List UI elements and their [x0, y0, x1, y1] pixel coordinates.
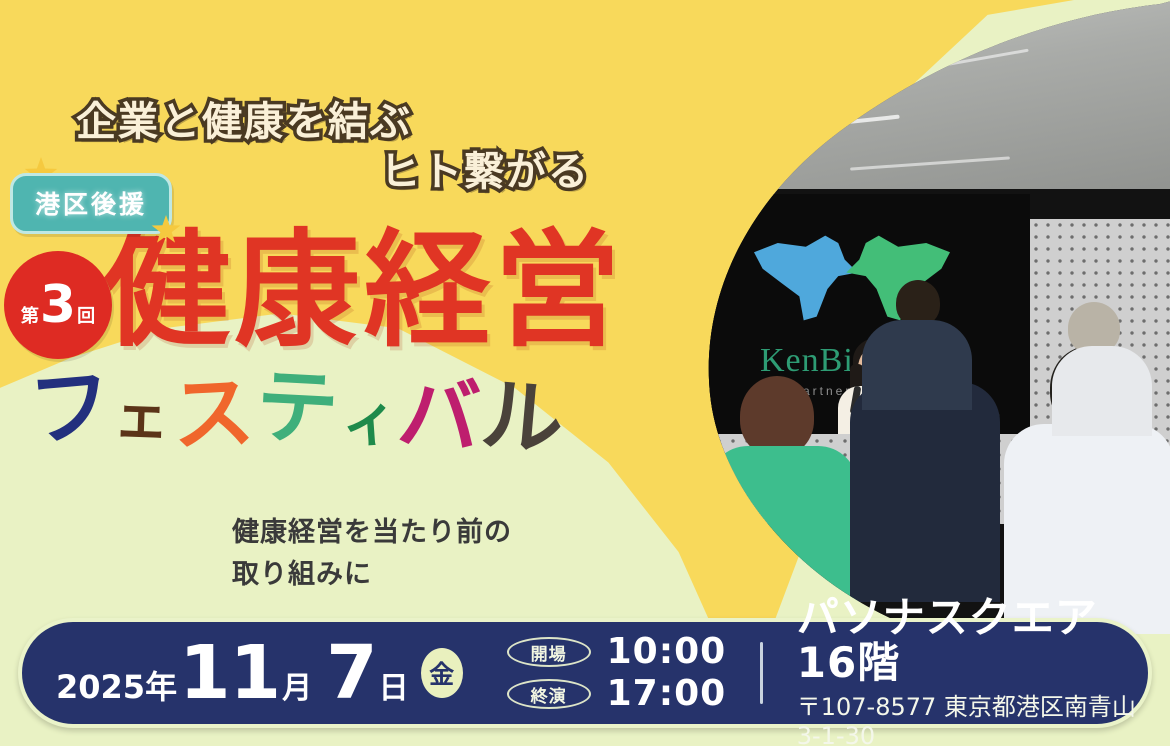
title-sub-char: フ	[26, 365, 117, 454]
event-poster: KenBi Partner	[0, 0, 1170, 746]
event-venue: パソナスクエア16階 〒107-8577 東京都港区南青山3-1-30	[797, 596, 1148, 746]
title-sub-char: ェ	[112, 389, 172, 447]
support-badge-body: 港区後援	[10, 173, 172, 234]
title-sub-char: ィ	[340, 392, 402, 452]
event-date: 2025年 11 月 7 日	[22, 630, 409, 716]
edition-badge: 第 3 回	[4, 251, 112, 359]
time-label-open: 開場	[507, 637, 591, 667]
edition-number: 3	[40, 283, 76, 327]
catch-copy-line-1: 健康経営を当たり前の	[232, 512, 512, 554]
venue-name: パソナスクエア16階	[797, 596, 1148, 684]
time-value-close: 17:00	[607, 676, 727, 712]
time-row: 開場 10:00	[507, 634, 727, 670]
catch-copy-line-2: 取り組みに	[232, 554, 512, 596]
support-badge-label: 港区後援	[35, 190, 147, 219]
date-day-number: 7	[324, 630, 379, 716]
title-sub-char: テ	[254, 366, 342, 452]
tagline-line-1: 企業と健康を結ぶ	[76, 100, 616, 146]
edition-prefix: 第	[21, 302, 39, 328]
edition-suffix: 回	[77, 302, 95, 328]
title-sub: フ ェ ス テ ィ バ ル	[30, 372, 566, 454]
title-sub-char: ル	[478, 374, 569, 463]
venue-address: 〒107-8577 東京都港区南青山3-1-30	[797, 687, 1148, 746]
screen-logo-name: KenBi	[760, 342, 854, 380]
date-day-unit: 日	[379, 663, 409, 707]
time-row: 終演 17:00	[507, 676, 727, 712]
time-label-close: 終演	[507, 679, 591, 709]
date-month-number: 11	[177, 630, 282, 716]
title-sub-char: ス	[170, 372, 258, 458]
time-value-open: 10:00	[607, 634, 727, 670]
date-year: 2025年	[56, 662, 177, 708]
weekday-badge: 金	[421, 648, 463, 698]
title-main: 健康経営	[104, 228, 624, 354]
date-month-unit: 月	[282, 663, 324, 707]
bird-blue-icon	[754, 232, 862, 324]
title-sub-char: バ	[395, 373, 485, 461]
event-times: 開場 10:00 終演 17:00	[507, 634, 727, 712]
info-divider	[760, 642, 763, 704]
catch-copy: 健康経営を当たり前の 取り組みに	[232, 512, 512, 596]
support-badge: 港区後援	[10, 173, 172, 234]
event-info-bar: 2025年 11 月 7 日 金 開場 10:00 終演 17:00 パソナスク…	[18, 618, 1152, 728]
